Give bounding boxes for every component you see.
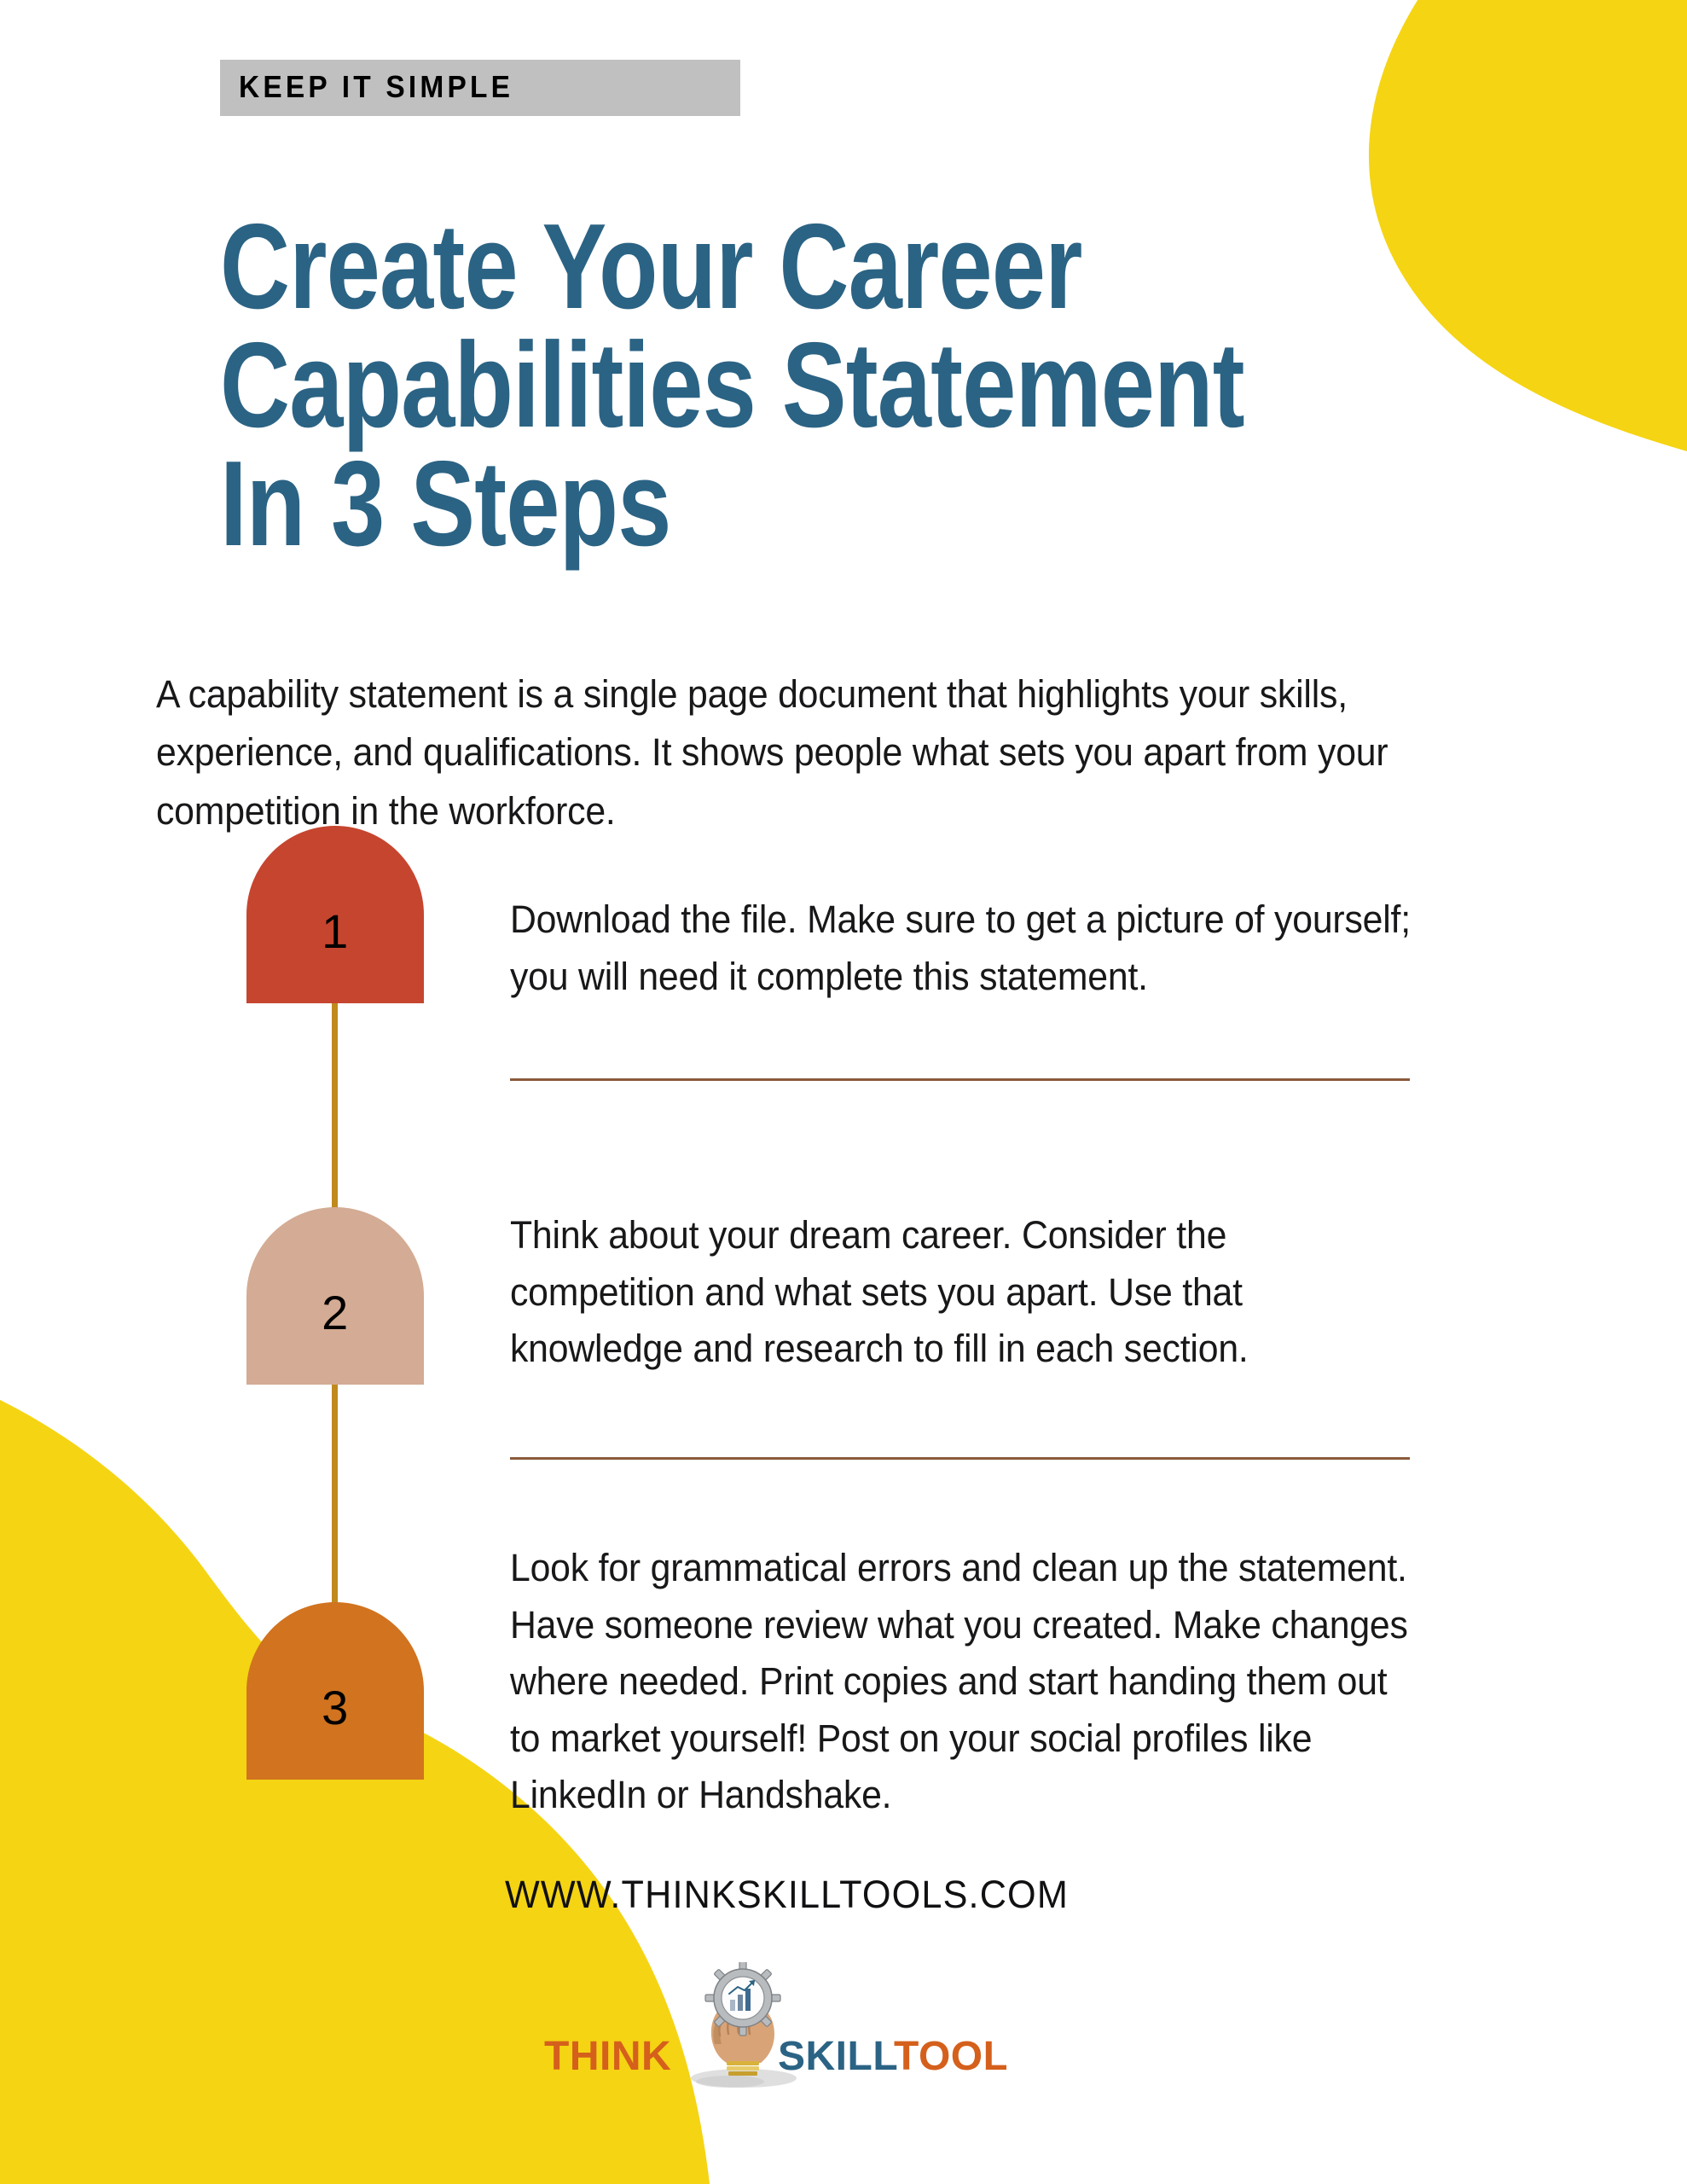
logo-word-skill: SKILL	[778, 2034, 898, 2079]
headline-line-3: In 3 Steps	[220, 444, 1162, 563]
step-badge-3: 3	[246, 1602, 424, 1780]
eyebrow-banner: KEEP IT SIMPLE	[220, 60, 740, 116]
step-number-1: 1	[322, 908, 349, 955]
step-badge-2: 2	[246, 1207, 424, 1385]
step-divider-1	[510, 1078, 1410, 1081]
step-description-2: Think about your dream career. Consider …	[510, 1207, 1417, 1378]
step-number-2: 2	[322, 1289, 349, 1337]
logo-word-think: THINK	[544, 2034, 671, 2079]
step-description-1: Download the file. Make sure to get a pi…	[510, 892, 1417, 1005]
yellow-blob-top-right-decoration	[1218, 0, 1687, 495]
logo-word-tools: TOOLS	[894, 2034, 1006, 2079]
website-url[interactable]: WWW.THINKSKILLTOOLS.COM	[505, 1873, 1069, 1917]
intro-paragraph: A capability statement is a single page …	[156, 665, 1473, 840]
think-skill-tools-logo: THINK SKILL TOOLS	[529, 1962, 1006, 2090]
step-number-3: 3	[322, 1684, 349, 1732]
step-badge-1: 1	[246, 826, 424, 1003]
headline-line-1: Create Your Career	[220, 207, 1162, 326]
poster-page: KEEP IT SIMPLE Create Your Career Capabi…	[0, 0, 1687, 2184]
eyebrow-label: KEEP IT SIMPLE	[239, 72, 687, 102]
step-description-3: Look for grammatical errors and clean up…	[510, 1540, 1417, 1824]
page-title: Create Your Career Capabilities Statemen…	[220, 207, 1162, 563]
step-divider-2	[510, 1457, 1410, 1460]
headline-line-2: Capabilities Statement	[220, 326, 1162, 444]
